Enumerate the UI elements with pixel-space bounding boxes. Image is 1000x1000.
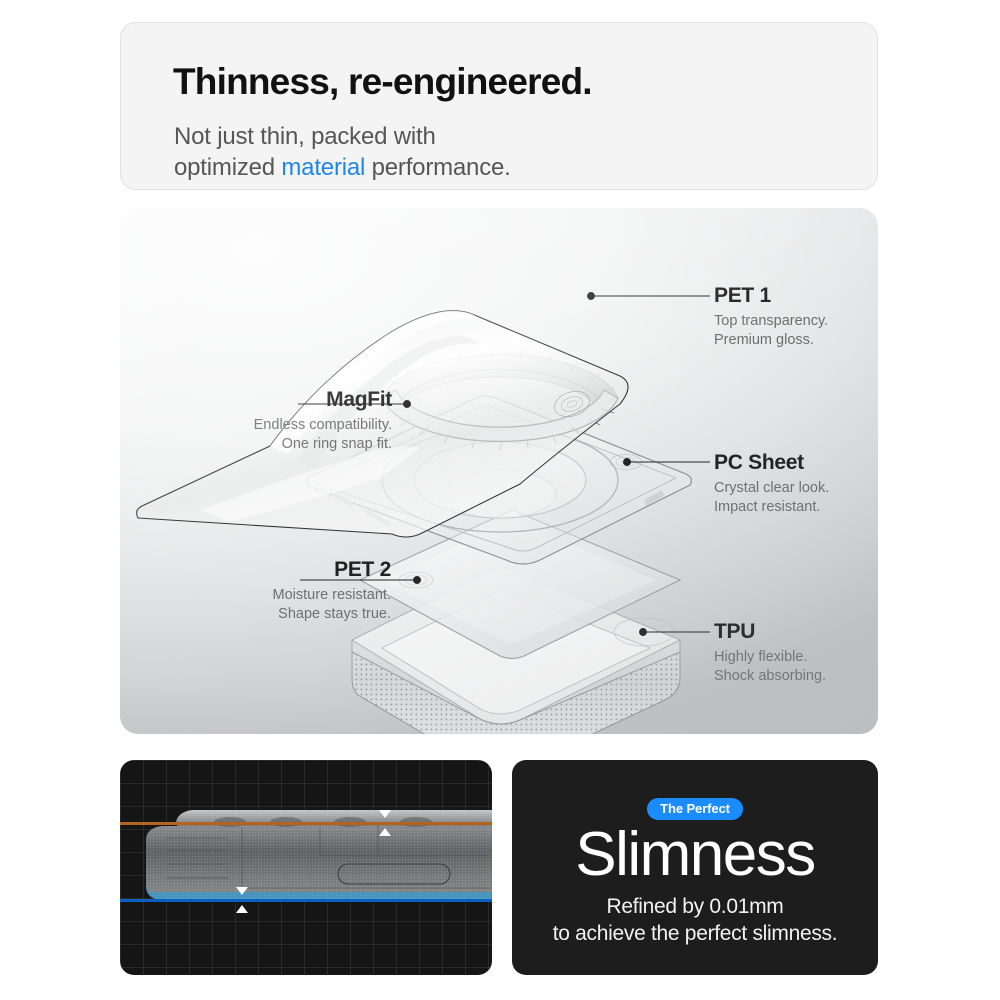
anchor-dot-pet2 — [414, 577, 421, 584]
label-tpu-desc: Highly flexible. Shock absorbing. — [714, 648, 826, 686]
label-pc-sheet-desc-1: Crystal clear look. — [714, 479, 829, 498]
subtitle-accent-word: material — [281, 154, 365, 181]
exploded-diagram-panel: PET 1 Top transparency. Premium gloss. M… — [120, 208, 878, 734]
slimness-subtext: Refined by 0.01mm to achieve the perfect… — [553, 893, 838, 947]
measure-marker-bottom-down — [236, 887, 248, 895]
measure-line-bottom — [120, 899, 492, 902]
measure-line-top — [120, 822, 492, 825]
subtitle-line-1: Not just thin, packed with — [174, 121, 511, 152]
label-pet1-desc-2: Premium gloss. — [714, 331, 828, 350]
label-pet2: PET 2 Moisture resistant. Shape stays tr… — [273, 558, 391, 624]
cross-section-panel — [120, 760, 492, 975]
subtitle-prefix: optimized — [174, 154, 281, 181]
label-pet2-desc-1: Moisture resistant. — [273, 586, 391, 605]
anchor-dot-pc-sheet — [624, 459, 631, 466]
header-card: Thinness, re-engineered. Not just thin, … — [120, 22, 878, 190]
anchor-dot-tpu — [640, 629, 647, 636]
anchor-dot-magfit — [404, 401, 411, 408]
label-pc-sheet-desc-2: Impact resistant. — [714, 498, 829, 517]
subtitle-suffix: performance. — [365, 154, 510, 181]
label-pet1-desc: Top transparency. Premium gloss. — [714, 312, 828, 350]
label-pet1-desc-1: Top transparency. — [714, 312, 828, 331]
label-pc-sheet: PC Sheet Crystal clear look. Impact resi… — [714, 451, 829, 517]
label-magfit-desc-2: One ring snap fit. — [254, 435, 392, 454]
slimness-subtext-1: Refined by 0.01mm — [553, 893, 838, 920]
slimness-subtext-2: to achieve the perfect slimness. — [553, 920, 838, 947]
label-magfit: MagFit Endless compatibility. One ring s… — [254, 388, 392, 454]
the-perfect-badge: The Perfect — [647, 798, 743, 820]
label-pet2-title: PET 2 — [273, 558, 391, 582]
label-pet2-desc-2: Shape stays true. — [273, 605, 391, 624]
label-pet1-title: PET 1 — [714, 284, 828, 308]
label-tpu-title: TPU — [714, 620, 826, 644]
measure-marker-bottom-up — [236, 905, 248, 913]
label-pc-sheet-title: PC Sheet — [714, 451, 829, 475]
slimness-headline: Slimness — [575, 822, 815, 889]
measure-marker-top-down — [379, 810, 391, 818]
label-tpu-desc-1: Highly flexible. — [714, 648, 826, 667]
subtitle-line-2: optimized material performance. — [174, 152, 511, 183]
label-magfit-desc-1: Endless compatibility. — [254, 416, 392, 435]
case-cross-section-illustration — [120, 760, 492, 975]
label-tpu-desc-2: Shock absorbing. — [714, 667, 826, 686]
label-pet1: PET 1 Top transparency. Premium gloss. — [714, 284, 828, 350]
page-subtitle: Not just thin, packed with optimized mat… — [174, 121, 511, 183]
page-title: Thinness, re-engineered. — [173, 61, 592, 103]
label-pet2-desc: Moisture resistant. Shape stays true. — [273, 586, 391, 624]
label-tpu: TPU Highly flexible. Shock absorbing. — [714, 620, 826, 686]
label-magfit-desc: Endless compatibility. One ring snap fit… — [254, 416, 392, 454]
measure-marker-top-up — [379, 828, 391, 836]
slimness-panel: The Perfect Slimness Refined by 0.01mm t… — [512, 760, 878, 975]
anchor-dot-pet1 — [588, 293, 595, 300]
label-magfit-title: MagFit — [254, 388, 392, 412]
label-pc-sheet-desc: Crystal clear look. Impact resistant. — [714, 479, 829, 517]
